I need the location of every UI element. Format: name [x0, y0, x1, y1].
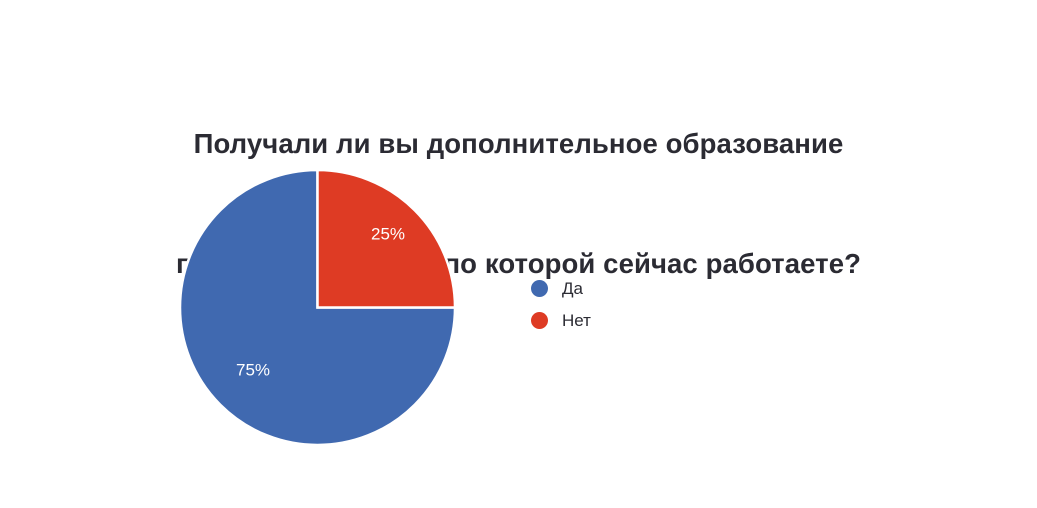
chart-title-line-2: по специальности, по которой сейчас рабо… [0, 244, 1037, 284]
legend-item-label: Да [562, 280, 583, 297]
chart-legend: Да Нет [531, 272, 711, 336]
legend-item-da[interactable]: Да [531, 272, 711, 304]
pie-slice-label-net: 25% [371, 224, 405, 243]
chart-title: Получали ли вы дополнительное образовани… [0, 44, 1037, 364]
pie-chart-figure: Получали ли вы дополнительное образовани… [0, 0, 1037, 508]
circle-marker-icon [531, 280, 548, 297]
pie-svg: 75% 25% [180, 170, 455, 445]
pie-slice-label-da: 75% [236, 360, 270, 379]
legend-item-net[interactable]: Нет [531, 304, 711, 336]
circle-marker-icon [531, 312, 548, 329]
chart-title-line-1: Получали ли вы дополнительное образовани… [0, 124, 1037, 164]
pie-plot-area: 75% 25% [180, 170, 455, 445]
legend-item-label: Нет [562, 312, 591, 329]
